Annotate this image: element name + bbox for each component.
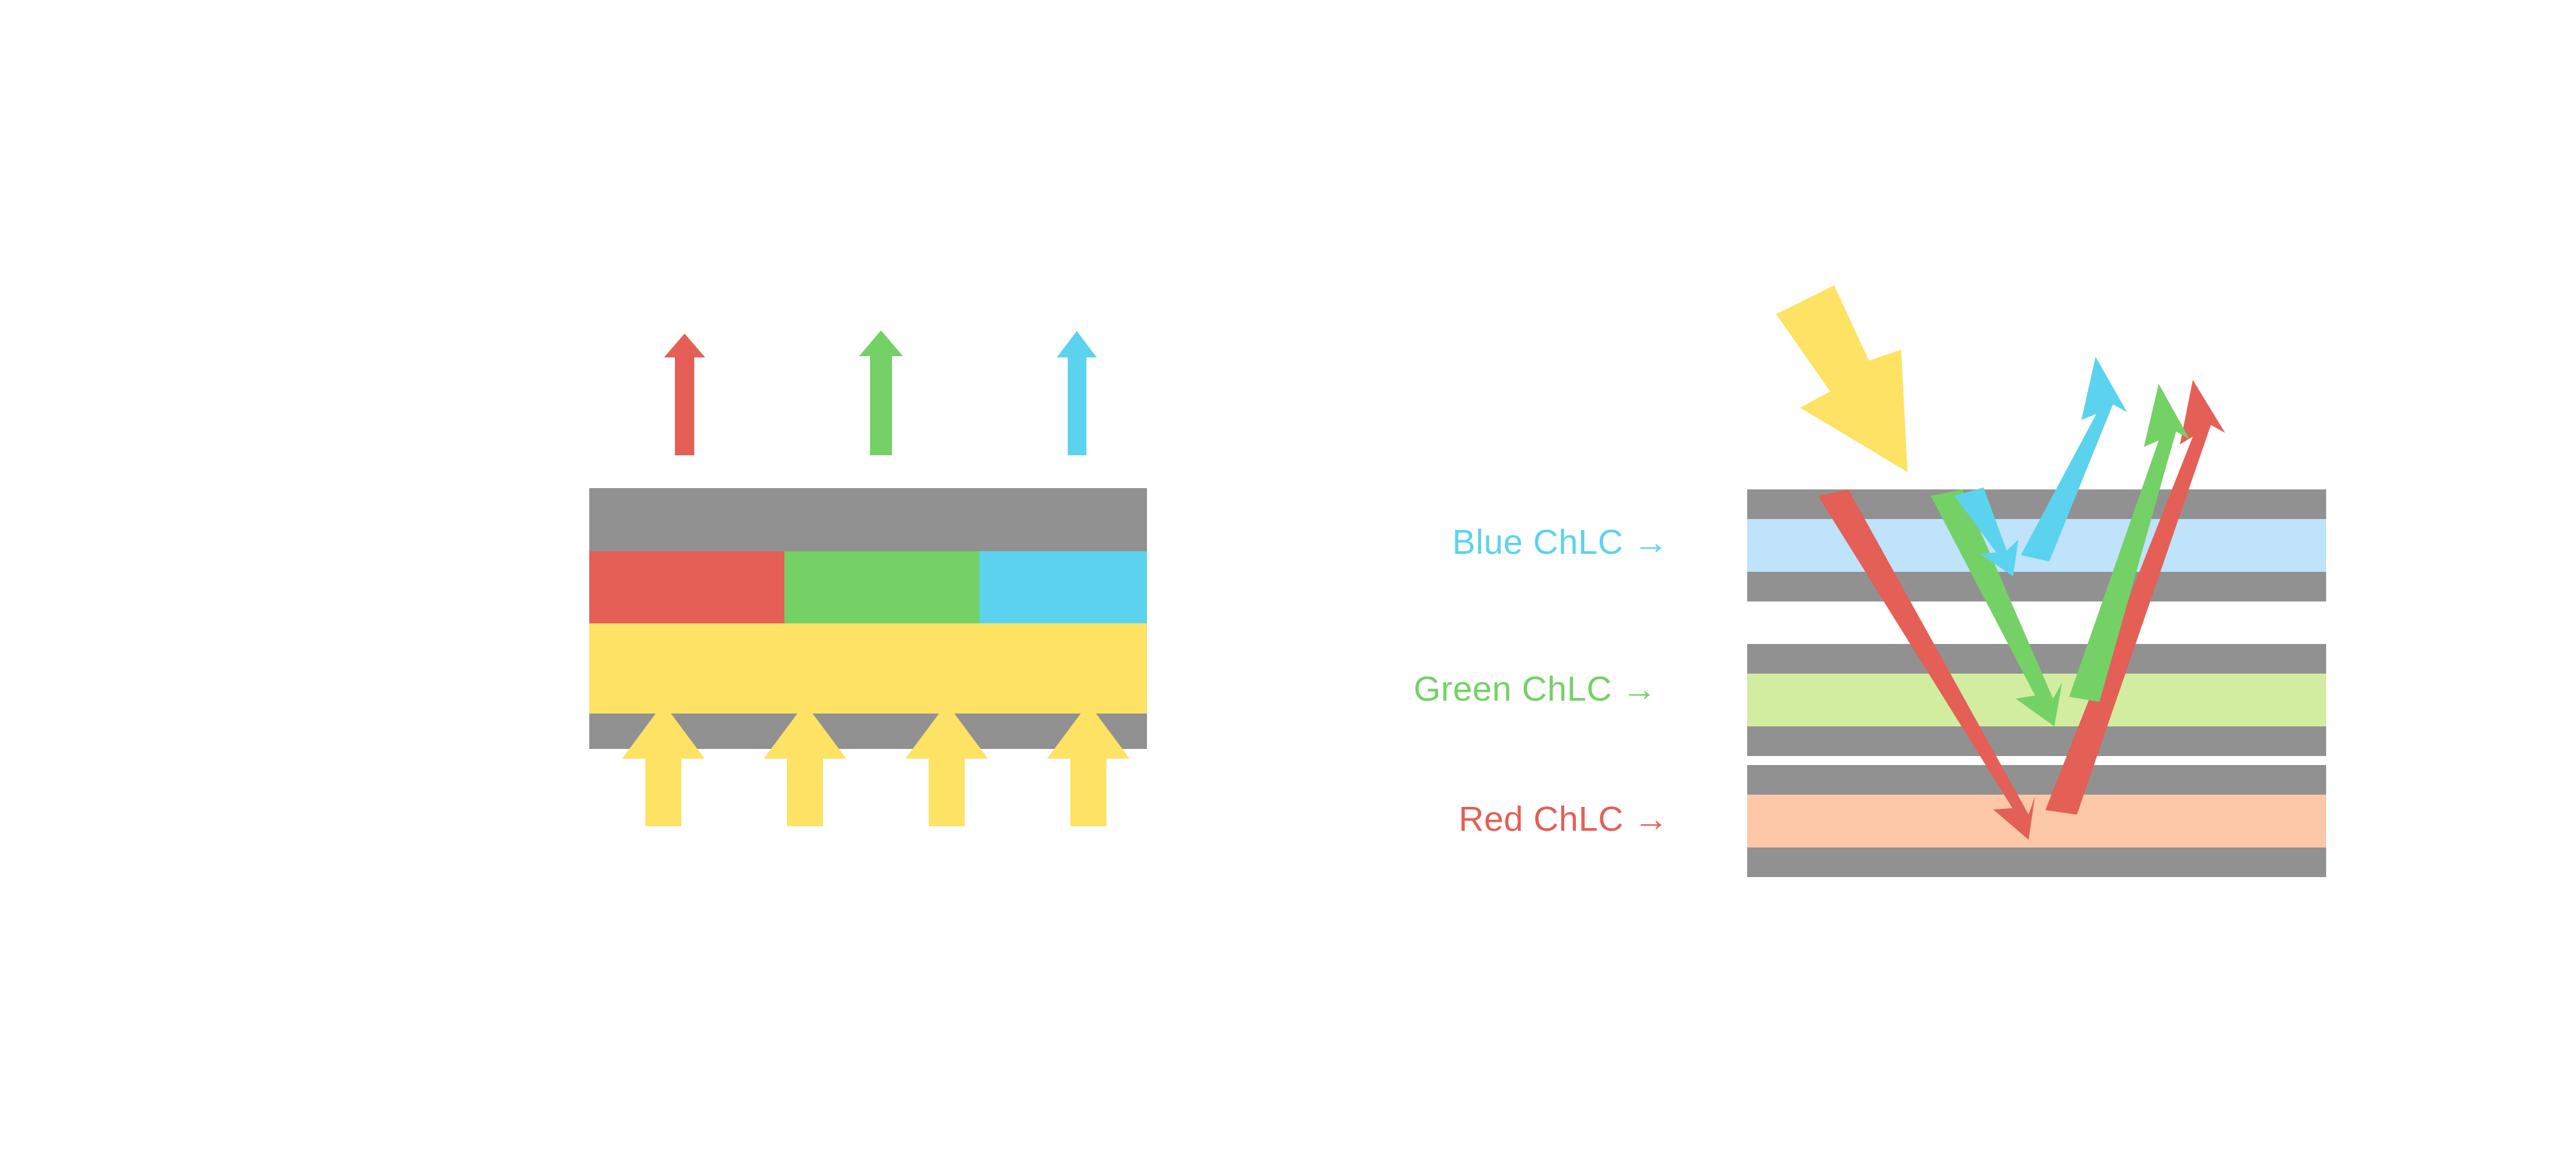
diagram-canvas: Blue ChLC → Green ChLC → Red ChLC →: [0, 0, 2576, 1154]
blue-stack-bottom-gray: [1747, 572, 2326, 601]
green-stack-bottom-gray: [1747, 726, 2326, 756]
red-emission-arrow: [664, 334, 705, 455]
red-stack-top-gray: [1747, 765, 2326, 795]
green-chlc-label-text: Green ChLC: [1414, 670, 1612, 708]
incident-white-light-arrow: [1776, 285, 1908, 472]
cyan-emission-arrow: [1057, 331, 1097, 455]
right-panel-group: [1747, 285, 2326, 877]
red-chlc-label-text: Red ChLC: [1459, 800, 1624, 838]
cyan-filter-segment: [980, 551, 1147, 623]
green-chlc-label: Green ChLC →: [1414, 672, 1657, 706]
red-chlc-label: Red ChLC →: [1459, 802, 1669, 837]
blue-chlc-label-arrow-icon: →: [1633, 523, 1669, 562]
green-filter-segment: [784, 551, 980, 623]
red-filter-segment: [589, 551, 784, 623]
blue-chlc-label: Blue ChLC →: [1452, 525, 1669, 560]
top-gray-substrate: [589, 488, 1147, 551]
red-chlc-active-layer: [1747, 795, 2326, 847]
blue-chlc-label-text: Blue ChLC: [1452, 523, 1624, 562]
red-chlc-label-arrow-icon: →: [1634, 800, 1669, 838]
green-emission-arrow: [859, 330, 903, 455]
red-stack-bottom-gray: [1747, 847, 2326, 877]
green-chlc-label-arrow-icon: →: [1622, 670, 1658, 708]
yellow-backlight-layer: [589, 623, 1147, 714]
left-panel-group: [589, 330, 1147, 826]
diagram-svg: [0, 0, 2576, 1154]
